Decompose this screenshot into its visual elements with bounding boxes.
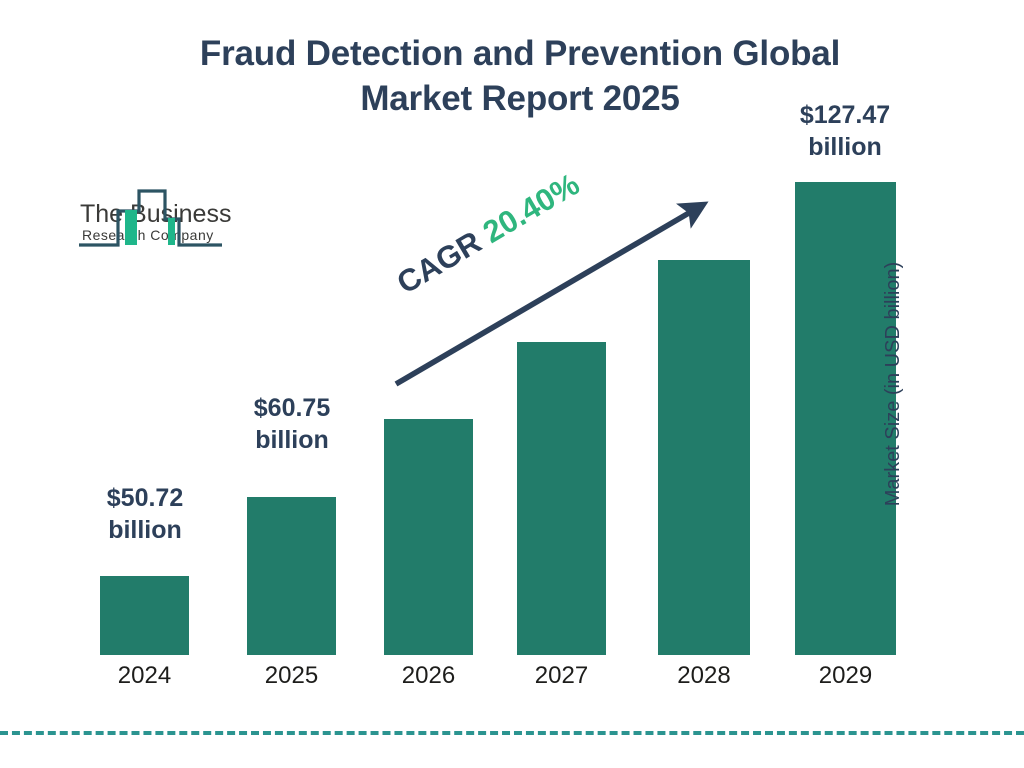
- bar-2024[interactable]: [100, 576, 189, 655]
- value-label-2025: $60.75 billion: [222, 393, 362, 456]
- bar-2028[interactable]: [658, 260, 750, 655]
- bar-2027[interactable]: [517, 342, 606, 655]
- value-label-2024-amount: $50.72: [75, 483, 215, 515]
- value-label-2029: $127.47 billion: [775, 100, 915, 163]
- x-tick-2029: 2029: [795, 662, 896, 690]
- bar-2025[interactable]: [247, 497, 336, 655]
- value-label-2029-amount: $127.47: [775, 100, 915, 132]
- x-tick-2024: 2024: [100, 662, 189, 690]
- cagr-word: CAGR: [391, 224, 487, 300]
- value-label-2025-amount: $60.75: [222, 393, 362, 425]
- cagr-label: CAGR 20.40%: [391, 166, 586, 301]
- x-tick-2028: 2028: [658, 662, 750, 690]
- value-label-2029-unit: billion: [775, 132, 915, 164]
- cagr-value: 20.40%: [477, 166, 585, 250]
- y-axis-title: Market Size (in USD billion): [882, 262, 905, 507]
- x-tick-2027: 2027: [517, 662, 606, 690]
- value-label-2025-unit: billion: [222, 425, 362, 457]
- value-label-2024: $50.72 billion: [75, 483, 215, 546]
- x-tick-2025: 2025: [247, 662, 336, 690]
- value-label-2024-unit: billion: [75, 515, 215, 547]
- bar-chart-plot-area: 2024 2025 2026 2027 2028 2029 $50.72 bil…: [0, 0, 1024, 768]
- bar-2026[interactable]: [384, 419, 473, 655]
- footer-divider: [0, 731, 1024, 735]
- x-tick-2026: 2026: [384, 662, 473, 690]
